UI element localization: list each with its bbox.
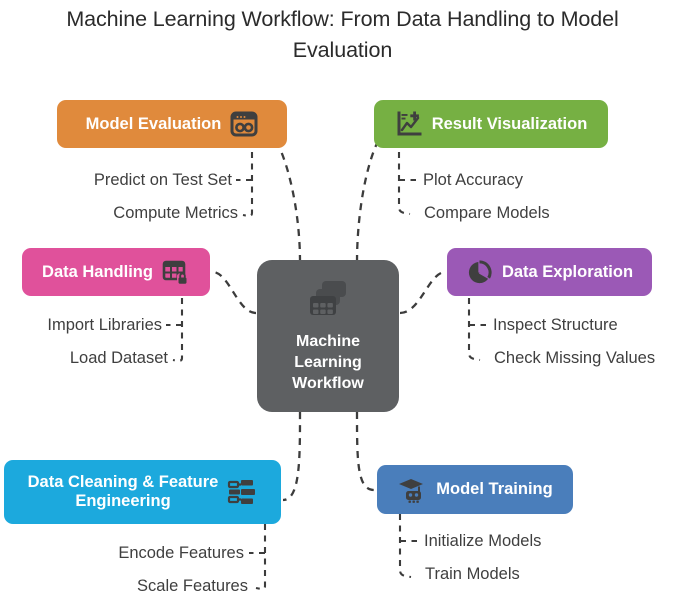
subitem-load-dataset[interactable]: Load Dataset <box>0 348 168 368</box>
sitemap-icon <box>227 477 257 507</box>
center-node-label: Machine Learning Workflow <box>292 331 364 394</box>
stacked-data-cards-icon <box>306 279 350 325</box>
branch-label-result-visualization: Result Visualization <box>432 115 588 134</box>
branch-label-data-cleaning-feature-engineering: Data Cleaning & Feature Engineering <box>28 473 219 511</box>
branch-node-data-handling[interactable]: Data Handling <box>22 248 210 296</box>
link-center-to-data-cleaning <box>283 412 300 500</box>
subitem-import-libraries[interactable]: Import Libraries <box>0 315 162 335</box>
subtree-model-training <box>400 514 417 577</box>
subitem-initialize-models[interactable]: Initialize Models <box>424 531 541 551</box>
subitem-compute-metrics[interactable]: Compute Metrics <box>0 203 238 223</box>
subitem-scale-features[interactable]: Scale Features <box>0 576 248 596</box>
subtree-data-handling <box>166 298 182 361</box>
subtree-data-exploration <box>469 298 486 360</box>
subitem-predict-on-test-set[interactable]: Predict on Test Set <box>0 170 232 190</box>
graduation-robot-icon <box>397 476 427 504</box>
branch-node-data-exploration[interactable]: Data Exploration <box>447 248 652 296</box>
subitem-encode-features[interactable]: Encode Features <box>0 543 244 563</box>
subitem-check-missing-values[interactable]: Check Missing Values <box>494 348 655 368</box>
branch-label-model-training: Model Training <box>436 480 552 499</box>
subitem-inspect-structure[interactable]: Inspect Structure <box>493 315 618 335</box>
subitem-compare-models[interactable]: Compare Models <box>424 203 550 223</box>
subtree-result-visualization <box>399 152 416 214</box>
branch-label-data-exploration: Data Exploration <box>502 263 633 282</box>
subtree-model-evaluation <box>236 152 252 216</box>
chart-plus-icon <box>395 110 423 138</box>
subtree-data-cleaning <box>249 524 265 589</box>
link-center-to-model-training <box>357 412 374 490</box>
branch-node-model-training[interactable]: Model Training <box>377 465 573 514</box>
table-lock-icon <box>162 258 190 286</box>
diagram-canvas: Machine Learning Workflow: From Data Han… <box>0 0 685 599</box>
subitem-plot-accuracy[interactable]: Plot Accuracy <box>423 170 523 190</box>
branch-node-model-evaluation[interactable]: Model Evaluation <box>57 100 287 148</box>
colab-window-icon <box>230 110 258 138</box>
branch-label-data-handling: Data Handling <box>42 263 153 282</box>
branch-node-data-cleaning-feature-engineering[interactable]: Data Cleaning & Feature Engineering <box>4 460 281 524</box>
link-center-to-data-handling <box>214 272 256 313</box>
subitem-train-models[interactable]: Train Models <box>425 564 520 584</box>
pie-chart-icon <box>466 259 493 286</box>
branch-label-model-evaluation: Model Evaluation <box>86 115 222 134</box>
branch-node-result-visualization[interactable]: Result Visualization <box>374 100 608 148</box>
center-node[interactable]: Machine Learning Workflow <box>257 260 399 412</box>
link-center-to-data-exploration <box>400 272 444 313</box>
